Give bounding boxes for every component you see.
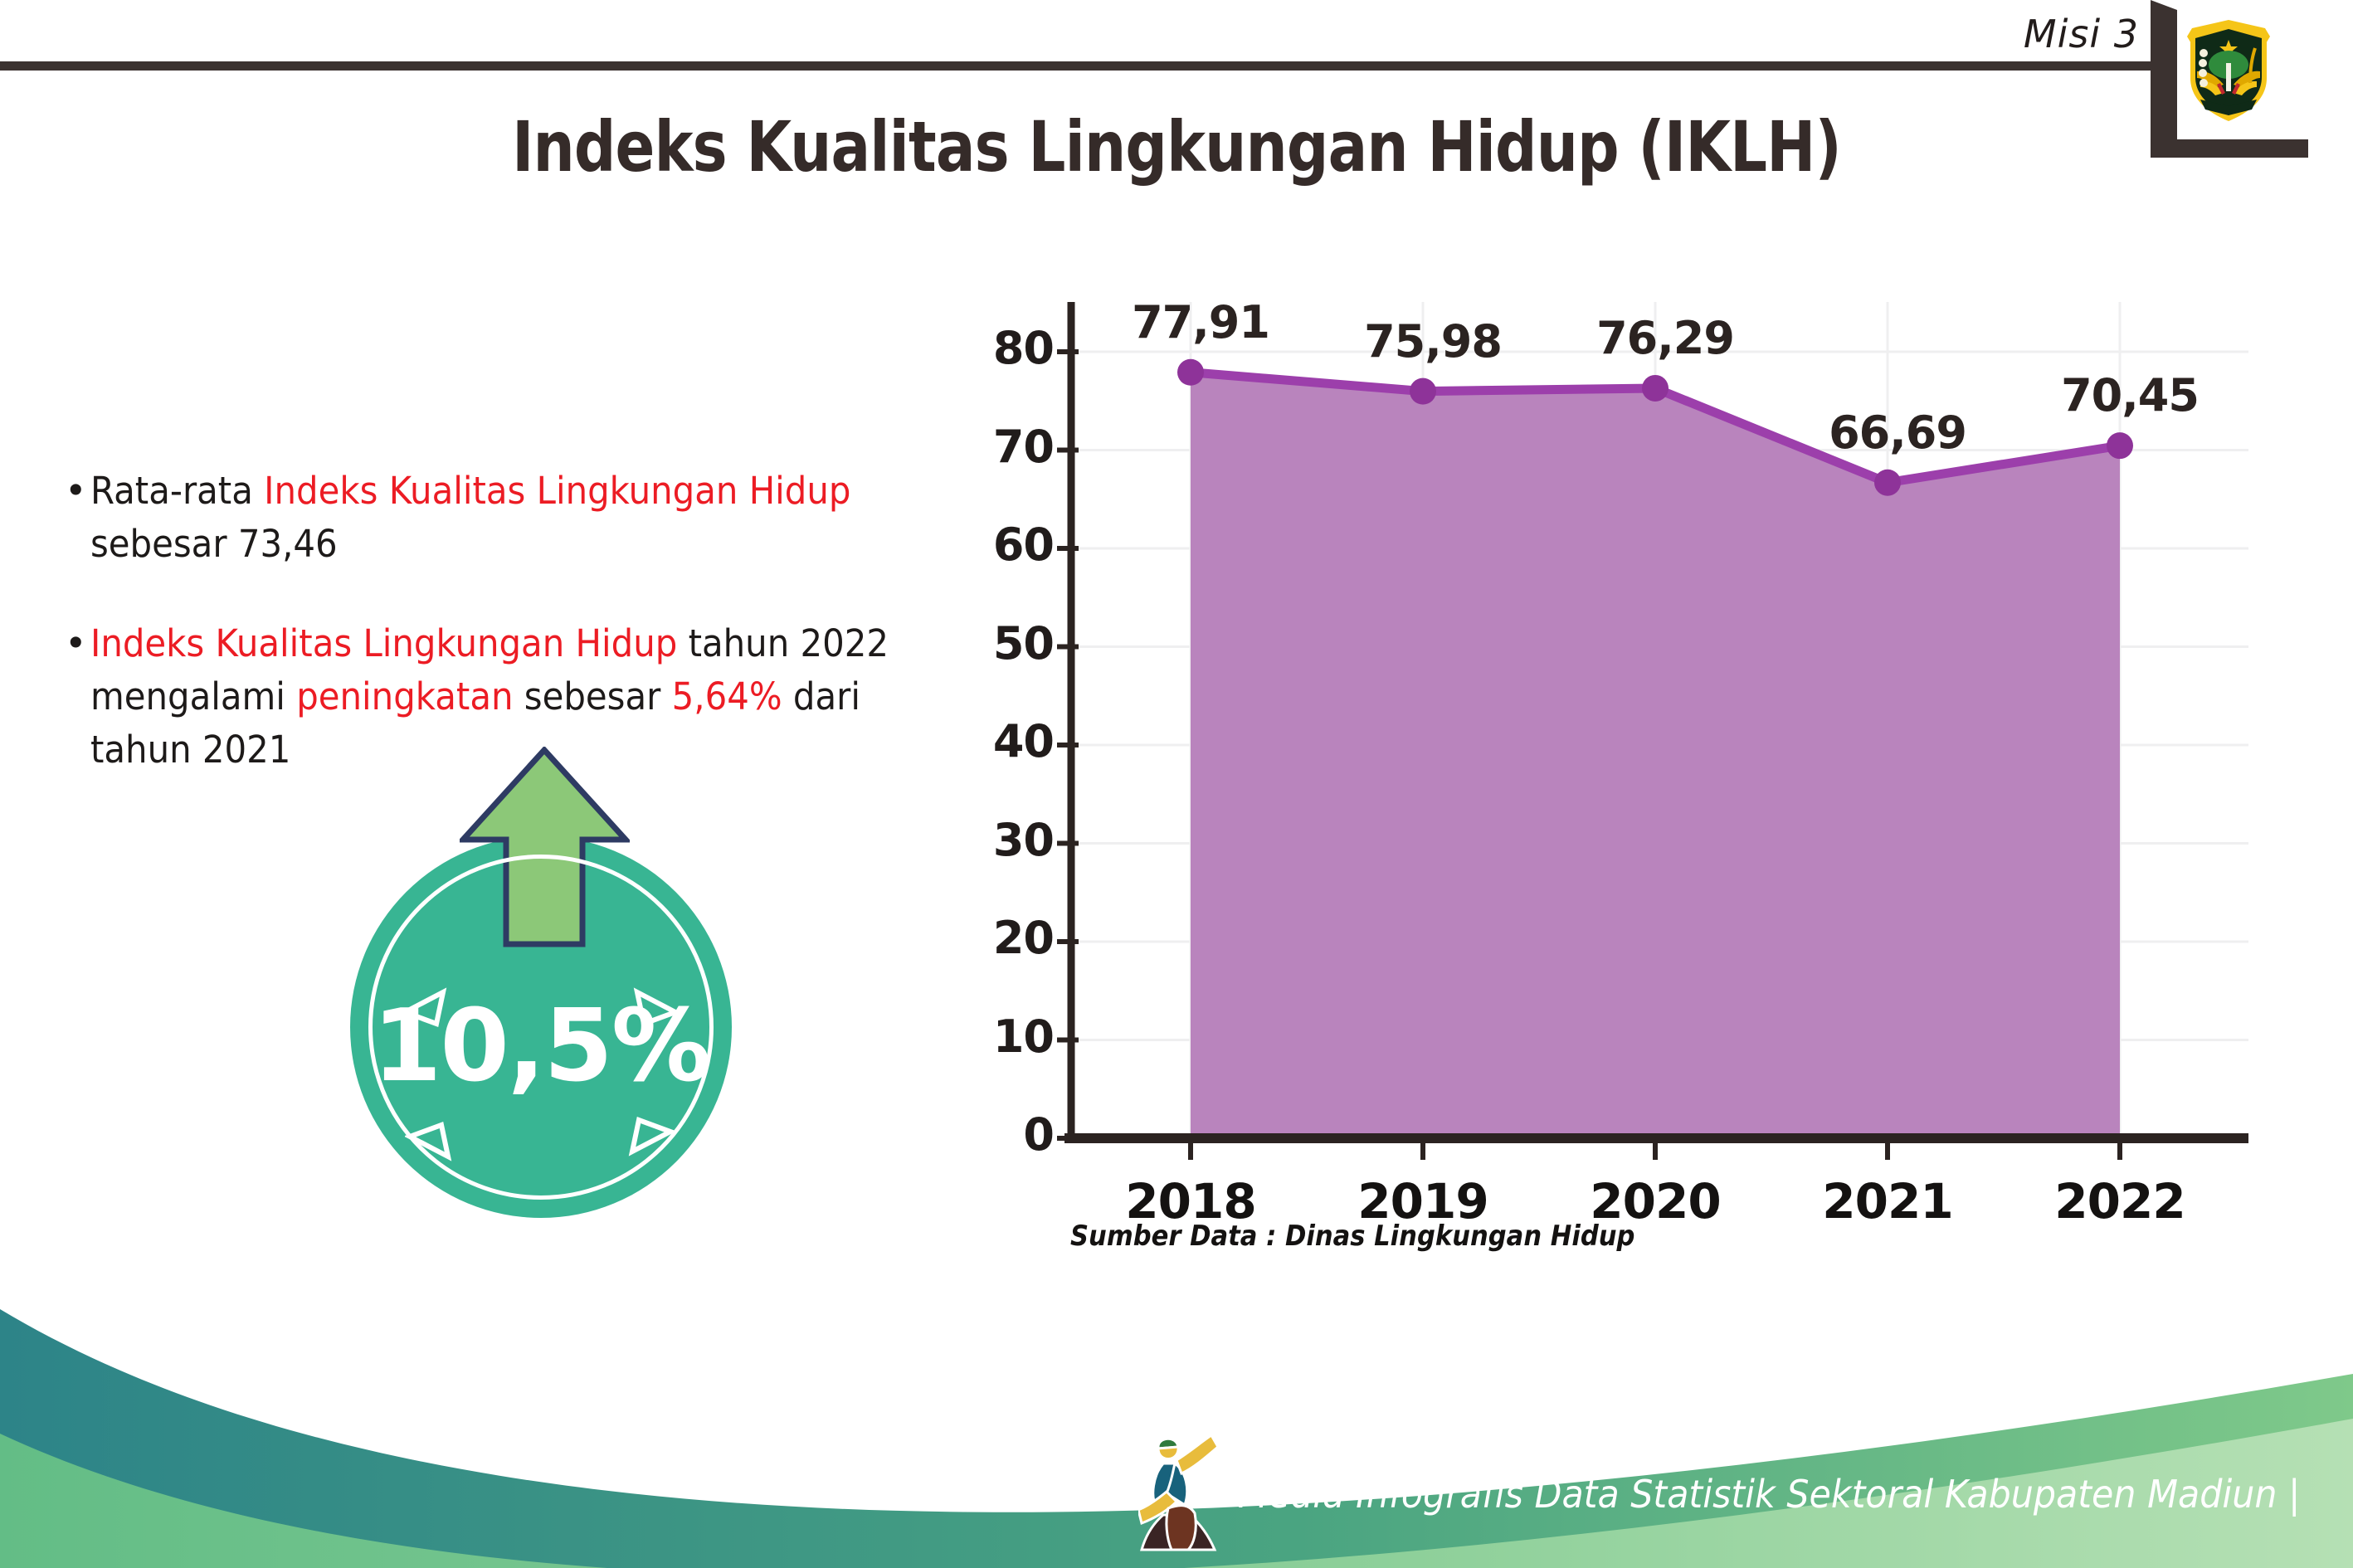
- data-label: 77,91: [1093, 296, 1308, 348]
- bullet-part: sebesar 73,46: [90, 522, 338, 566]
- badge-tick-bottom-left-icon: [405, 1113, 455, 1163]
- misi-label: Misi 3: [2024, 12, 2139, 56]
- y-axis-label: 40: [954, 715, 1054, 767]
- y-axis-label: 20: [954, 912, 1054, 964]
- bullet-part-highlight: 5,64%: [671, 674, 782, 718]
- bullet-marker: •: [65, 617, 87, 670]
- x-axis-label: 2022: [2012, 1173, 2228, 1230]
- y-axis-label: 70: [954, 421, 1054, 473]
- chart-marker: [2107, 432, 2133, 459]
- chart-marker: [1874, 470, 1901, 496]
- y-axis-label: 80: [954, 322, 1054, 374]
- bullet-part: Rata-rata: [90, 469, 264, 513]
- page-title: Indeks Kualitas Lingkungan Hidup (IKLH): [188, 106, 2165, 187]
- header-rule: [0, 61, 2151, 71]
- chart-marker: [1177, 359, 1204, 386]
- bullet-part-highlight: Indeks Kualitas Lingkungan Hidup: [90, 621, 677, 665]
- bullet-part-highlight: Indeks Kualitas Lingkungan Hidup: [264, 469, 850, 513]
- y-axis-label: 10: [954, 1010, 1054, 1063]
- footer-text: Media Infografis Data Statistik Sektoral…: [1238, 1472, 2300, 1517]
- data-label: 76,29: [1557, 312, 1773, 364]
- badge-value: 10,5%: [350, 989, 732, 1104]
- chart-marker: [1642, 375, 1669, 402]
- data-label: 66,69: [1790, 407, 2005, 459]
- chart-area: [1191, 373, 2120, 1138]
- bullet-part-highlight: peningkatan: [296, 674, 513, 718]
- iklh-area-chart: 01020304050607080 20182019202020212022 7…: [954, 274, 2282, 1203]
- kabupaten-madiun-logo: [2175, 7, 2282, 131]
- data-label: 75,98: [1325, 315, 1541, 368]
- bullet-part: sebesar: [513, 674, 671, 718]
- chart-marker: [1410, 378, 1436, 405]
- badge-tick-bottom-right-icon: [626, 1108, 675, 1158]
- bullet-marker: •: [65, 465, 87, 518]
- y-axis-label: 0: [954, 1108, 1054, 1161]
- header-bracket-foot: [2151, 139, 2308, 158]
- x-axis-label: 2021: [1780, 1173, 1995, 1230]
- bullet-item-0: • Rata-rata Indeks Kualitas Lingkungan H…: [65, 465, 994, 571]
- y-axis-label: 60: [954, 519, 1054, 571]
- chart-source-note: Sumber Data : Dinas Lingkungan Hidup: [1070, 1220, 1634, 1253]
- statistik-figure-logo: [1138, 1427, 1230, 1560]
- increase-badge: 10,5%: [335, 772, 750, 1186]
- y-axis-label: 30: [954, 814, 1054, 866]
- y-axis-label: 50: [954, 617, 1054, 670]
- data-label: 70,45: [2022, 369, 2238, 421]
- bullet-text: Rata-rata Indeks Kualitas Lingkungan Hid…: [90, 465, 931, 571]
